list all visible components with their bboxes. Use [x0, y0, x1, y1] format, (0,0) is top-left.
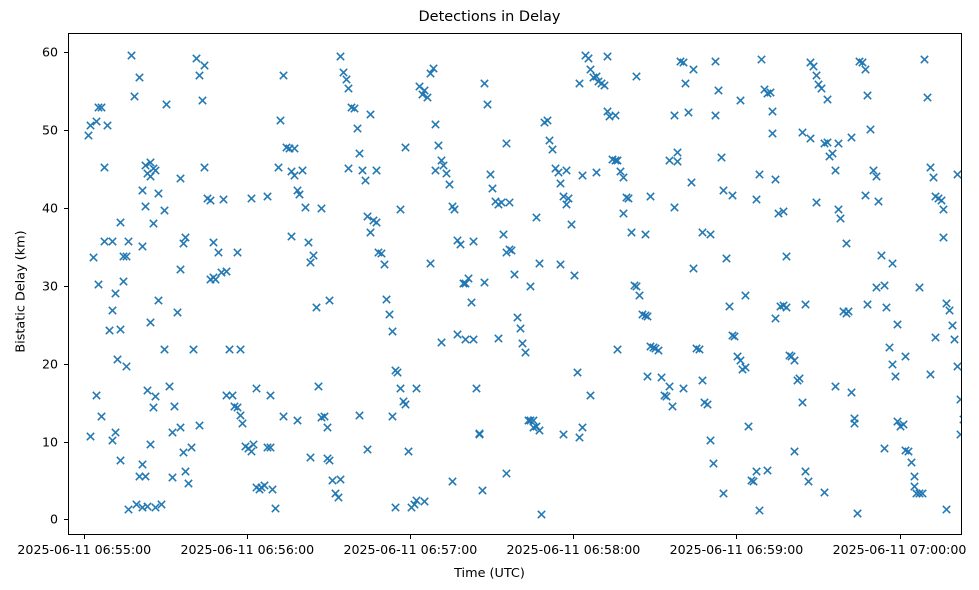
scatter-point — [113, 355, 122, 364]
x-tick-mark — [410, 535, 411, 539]
scatter-point — [241, 442, 250, 451]
scatter-point — [108, 306, 117, 315]
scatter-point — [616, 167, 625, 176]
scatter-point — [959, 415, 963, 424]
scatter-point — [89, 253, 98, 262]
scatter-point — [556, 260, 565, 269]
scatter-point — [605, 112, 614, 121]
scatter-point — [369, 216, 378, 225]
scatter-point — [630, 281, 639, 290]
scatter-point — [888, 360, 897, 369]
scatter-point — [679, 58, 688, 67]
scatter-point — [217, 268, 226, 277]
scatter-point — [505, 198, 514, 207]
scatter-point — [643, 312, 652, 321]
scatter-point — [613, 156, 622, 165]
scatter-point — [94, 103, 103, 112]
scatter-point — [347, 103, 356, 112]
scatter-point — [643, 372, 652, 381]
scatter-point — [323, 454, 332, 463]
scatter-point — [211, 275, 220, 284]
scatter-point — [317, 204, 326, 213]
scatter-point — [469, 237, 478, 246]
scatter-point — [363, 212, 372, 221]
scatter-point — [260, 481, 269, 490]
scatter-point — [382, 295, 391, 304]
scatter-point — [195, 71, 204, 80]
y-tick-label: 0 — [50, 512, 58, 527]
scatter-point — [214, 248, 223, 257]
scatter-point — [209, 273, 218, 282]
scatter-point — [939, 205, 948, 214]
scatter-point — [334, 493, 343, 502]
scatter-point — [478, 486, 487, 495]
scatter-point — [801, 467, 810, 476]
scatter-point — [355, 411, 364, 420]
scatter-point — [257, 483, 266, 492]
scatter-point — [233, 248, 242, 257]
scatter-point — [863, 300, 872, 309]
scatter-point — [448, 202, 457, 211]
scatter-point — [298, 166, 307, 175]
scatter-point — [336, 475, 345, 484]
scatter-point — [831, 166, 840, 175]
scatter-point — [445, 180, 454, 189]
scatter-point — [866, 125, 875, 134]
scatter-point — [138, 460, 147, 469]
scatter-point — [138, 186, 147, 195]
scatter-point — [706, 230, 715, 239]
scatter-point — [711, 111, 720, 120]
scatter-point — [771, 314, 780, 323]
scatter-point — [233, 403, 242, 412]
scatter-point — [619, 173, 628, 182]
scatter-point — [276, 116, 285, 125]
scatter-point — [755, 506, 764, 515]
scatter-point — [586, 65, 595, 74]
x-tick-label: 2025-06-11 06:57:00 — [343, 542, 477, 557]
scatter-point — [912, 489, 921, 498]
scatter-point — [611, 111, 620, 120]
scatter-point — [956, 395, 962, 404]
scatter-point — [700, 398, 709, 407]
scatter-point — [176, 265, 185, 274]
scatter-point — [535, 426, 544, 435]
y-tick-mark — [64, 286, 68, 287]
scatter-point — [711, 57, 720, 66]
scatter-point — [861, 65, 870, 74]
scatter-point — [420, 497, 429, 506]
x-tick-label: 2025-06-11 06:58:00 — [507, 542, 641, 557]
scatter-point — [790, 447, 799, 456]
scatter-point — [513, 313, 522, 322]
scatter-point — [942, 505, 951, 514]
scatter-point — [255, 485, 264, 494]
scatter-point — [344, 84, 353, 93]
scatter-point — [483, 100, 492, 109]
scatter-point — [556, 179, 565, 188]
scatter-point — [562, 166, 571, 175]
scatter-point — [339, 68, 348, 77]
scatter-point — [467, 298, 476, 307]
scatter-point — [388, 412, 397, 421]
scatter-point — [632, 282, 641, 291]
scatter-point — [888, 259, 897, 268]
scatter-point — [575, 79, 584, 88]
scatter-point — [725, 302, 734, 311]
scatter-point — [627, 228, 636, 237]
scatter-point — [869, 166, 878, 175]
scatter-point — [228, 391, 237, 400]
scatter-point — [138, 503, 147, 512]
scatter-point — [948, 321, 957, 330]
y-tick-label: 50 — [42, 123, 58, 138]
scatter-point — [244, 444, 253, 453]
scatter-point — [401, 400, 410, 409]
scatter-point — [230, 402, 239, 411]
scatter-point — [287, 167, 296, 176]
scatter-point — [135, 472, 144, 481]
scatter-point — [372, 218, 381, 227]
scatter-point — [910, 482, 919, 491]
scatter-point — [942, 299, 951, 308]
scatter-point — [744, 422, 753, 431]
x-tick-mark — [247, 535, 248, 539]
scatter-point — [189, 345, 198, 354]
scatter-point — [526, 416, 535, 425]
x-tick-label: 2025-06-11 06:59:00 — [670, 542, 804, 557]
scatter-point — [252, 384, 261, 393]
scatter-point — [950, 335, 959, 344]
scatter-point — [904, 447, 913, 456]
scatter-point — [179, 448, 188, 457]
scatter-point — [143, 169, 152, 178]
scatter-point — [181, 233, 190, 242]
scatter-point — [537, 510, 546, 519]
scatter-point — [624, 194, 633, 203]
y-tick-label: 20 — [42, 356, 58, 371]
scatter-point — [209, 238, 218, 247]
scatter-point — [877, 251, 886, 260]
scatter-point — [766, 88, 775, 97]
scatter-point — [741, 291, 750, 300]
scatter-point — [312, 303, 321, 312]
scatter-point — [719, 489, 728, 498]
scatter-point — [238, 419, 247, 428]
x-tick-label: 2025-06-11 07:00:00 — [833, 542, 967, 557]
scatter-point — [861, 191, 870, 200]
scatter-point — [687, 178, 696, 187]
scatter-point — [798, 128, 807, 137]
y-tick-mark — [64, 442, 68, 443]
scatter-point — [100, 163, 109, 172]
scatter-point — [575, 433, 584, 442]
x-tick-label: 2025-06-11 06:55:00 — [17, 542, 151, 557]
scatter-point — [798, 398, 807, 407]
scatter-point — [926, 163, 935, 172]
scatter-point — [559, 192, 568, 201]
scatter-point — [673, 148, 682, 157]
scatter-point — [722, 254, 731, 263]
scatter-point — [119, 277, 128, 286]
y-tick-mark — [64, 130, 68, 131]
scatter-point — [679, 384, 688, 393]
scatter-point — [122, 252, 131, 261]
scatter-point — [844, 307, 853, 316]
scatter-point — [336, 52, 345, 61]
scatter-point — [494, 334, 503, 343]
scatter-point — [247, 447, 256, 456]
scatter-point — [410, 500, 419, 509]
scatter-point — [407, 503, 416, 512]
scatter-point — [567, 220, 576, 229]
scatter-point — [505, 245, 514, 254]
scatter-point — [834, 205, 843, 214]
scatter-point — [820, 139, 829, 148]
y-tick-label: 60 — [42, 45, 58, 60]
y-tick-mark — [64, 519, 68, 520]
scatter-point — [600, 81, 609, 90]
scatter-point — [760, 85, 769, 94]
scatter-point — [97, 103, 106, 112]
scatter-point — [179, 239, 188, 248]
scatter-point — [779, 301, 788, 310]
scatter-point — [198, 96, 207, 105]
scatter-point — [293, 416, 302, 425]
scatter-point — [124, 505, 133, 514]
scatter-point — [151, 166, 160, 175]
scatter-point — [728, 191, 737, 200]
scatter-point — [200, 61, 209, 70]
scatter-point — [592, 168, 601, 177]
scatter-point — [939, 233, 948, 242]
scatter-point — [146, 318, 155, 327]
scatter-point — [396, 384, 405, 393]
scatter-point — [961, 446, 962, 455]
scatter-point — [885, 343, 894, 352]
scatter-point — [412, 496, 421, 505]
scatter-point — [823, 138, 832, 147]
scatter-point — [730, 332, 739, 341]
scatter-point — [219, 195, 228, 204]
scatter-point — [374, 248, 383, 257]
scatter-point — [872, 283, 881, 292]
scatter-point — [426, 69, 435, 78]
x-tick-label: 2025-06-11 06:56:00 — [180, 542, 314, 557]
scatter-point — [880, 281, 889, 290]
scatter-point — [475, 430, 484, 439]
matplotlib-figure: Detections in Delay 2025-06-11 06:55:002… — [0, 0, 979, 590]
scatter-point — [442, 169, 451, 178]
scatter-point — [603, 107, 612, 116]
scatter-point — [578, 423, 587, 432]
scatter-point — [717, 153, 726, 162]
scatter-point — [325, 296, 334, 305]
scatter-point — [358, 166, 367, 175]
scatter-point — [119, 252, 128, 261]
scatter-point — [863, 91, 872, 100]
scatter-point — [92, 391, 101, 400]
scatter-point — [728, 331, 737, 340]
scatter-point — [323, 423, 332, 432]
scatter-point — [331, 489, 340, 498]
scatter-point — [945, 306, 954, 315]
scatter-point — [603, 52, 612, 61]
scatter-point — [203, 194, 212, 203]
scatter-point — [698, 376, 707, 385]
scatter-point — [793, 376, 802, 385]
scatter-point — [143, 502, 152, 511]
scatter-point — [399, 397, 408, 406]
scatter-point — [741, 363, 750, 372]
scatter-point — [116, 325, 125, 334]
scatter-point — [706, 436, 715, 445]
scatter-point — [923, 93, 932, 102]
scatter-point — [613, 345, 622, 354]
scatter-point — [920, 55, 929, 64]
scatter-point — [681, 79, 690, 88]
scatter-point — [899, 420, 908, 429]
scatter-point — [415, 82, 424, 91]
scatter-point — [124, 237, 133, 246]
plot-axes — [68, 33, 962, 535]
scatter-point — [689, 65, 698, 74]
x-axis-label: Time (UTC) — [0, 566, 979, 581]
scatter-point — [393, 368, 402, 377]
scatter-point — [385, 310, 394, 319]
scatter-point — [834, 139, 843, 148]
scatter-point — [301, 203, 310, 212]
scatter-point — [361, 176, 370, 185]
scatter-point — [355, 149, 364, 158]
scatter-point — [804, 477, 813, 486]
scatter-point — [929, 173, 938, 182]
scatter-point — [391, 503, 400, 512]
scatter-point — [934, 194, 943, 203]
scatter-point — [306, 258, 315, 267]
scatter-point — [380, 260, 389, 269]
scatter-point — [564, 194, 573, 203]
scatter-point — [472, 384, 481, 393]
scatter-point — [670, 203, 679, 212]
x-tick-mark — [900, 535, 901, 539]
scatter-point — [146, 158, 155, 167]
scatter-point — [494, 200, 503, 209]
scatter-point — [698, 228, 707, 237]
scatter-point — [141, 161, 150, 170]
scatter-point — [502, 469, 511, 478]
scatter-point — [236, 411, 245, 420]
scatter-point — [437, 156, 446, 165]
scatter-point — [287, 232, 296, 241]
scatter-point — [151, 392, 160, 401]
scatter-point — [641, 311, 650, 320]
scatter-point — [559, 430, 568, 439]
scatter-point — [719, 186, 728, 195]
scatter-point — [812, 198, 821, 207]
scatter-point — [592, 72, 601, 81]
scatter-point — [752, 467, 761, 476]
scatter-point — [306, 453, 315, 462]
scatter-point — [412, 384, 421, 393]
scatter-point — [282, 143, 291, 152]
scatter-point — [404, 447, 413, 456]
scatter-point — [529, 423, 538, 432]
scatter-point — [526, 282, 535, 291]
scatter-point — [363, 445, 372, 454]
scatter-point — [910, 472, 919, 481]
scatter-point — [141, 202, 150, 211]
scatter-point — [317, 413, 326, 422]
scatter-point — [160, 345, 169, 354]
scatter-point — [847, 133, 856, 142]
x-tick-mark — [84, 535, 85, 539]
scatter-point — [673, 157, 682, 166]
scatter-point — [108, 237, 117, 246]
scatter-point — [806, 134, 815, 143]
scatter-point — [757, 55, 766, 64]
scatter-point — [915, 283, 924, 292]
scatter-point — [872, 172, 881, 181]
scatter-point — [100, 237, 109, 246]
scatter-point — [891, 372, 900, 381]
scatter-point — [320, 412, 329, 421]
scatter-point — [366, 110, 375, 119]
scatter-point — [388, 327, 397, 336]
scatter-point — [86, 121, 95, 130]
scatter-point — [573, 368, 582, 377]
scatter-point — [893, 417, 902, 426]
scatter-point — [309, 251, 318, 260]
scatter-point — [181, 467, 190, 476]
scatter-point — [836, 214, 845, 223]
scatter-point — [439, 161, 448, 170]
scatter-point — [926, 370, 935, 379]
scatter-point — [426, 259, 435, 268]
scatter-point — [581, 51, 590, 60]
scatter-point — [162, 100, 171, 109]
scatter-point — [817, 84, 826, 93]
scatter-point — [689, 264, 698, 273]
scatter-point — [839, 307, 848, 316]
scatter-point — [170, 402, 179, 411]
scatter-point — [801, 300, 810, 309]
scatter-point — [459, 279, 468, 288]
scatter-point — [532, 213, 541, 222]
scatter-point — [206, 196, 215, 205]
scatter-point — [143, 386, 152, 395]
y-tick-mark — [64, 52, 68, 53]
scatter-point — [632, 72, 641, 81]
scatter-point — [486, 170, 495, 179]
scatter-point — [896, 422, 905, 431]
scatter-point — [279, 412, 288, 421]
scatter-point — [154, 189, 163, 198]
scatter-point — [429, 64, 438, 73]
scatter-point — [146, 172, 155, 181]
scatter-point — [649, 343, 658, 352]
scatter-point — [249, 440, 258, 449]
scatter-point — [200, 163, 209, 172]
scatter-point — [448, 477, 457, 486]
scatter-point — [266, 443, 275, 452]
scatter-point — [901, 446, 910, 455]
scatter-point — [130, 92, 139, 101]
scatter-point — [453, 330, 462, 339]
scatter-point — [747, 476, 756, 485]
scatter-point — [842, 309, 851, 318]
scatter-point — [344, 164, 353, 173]
